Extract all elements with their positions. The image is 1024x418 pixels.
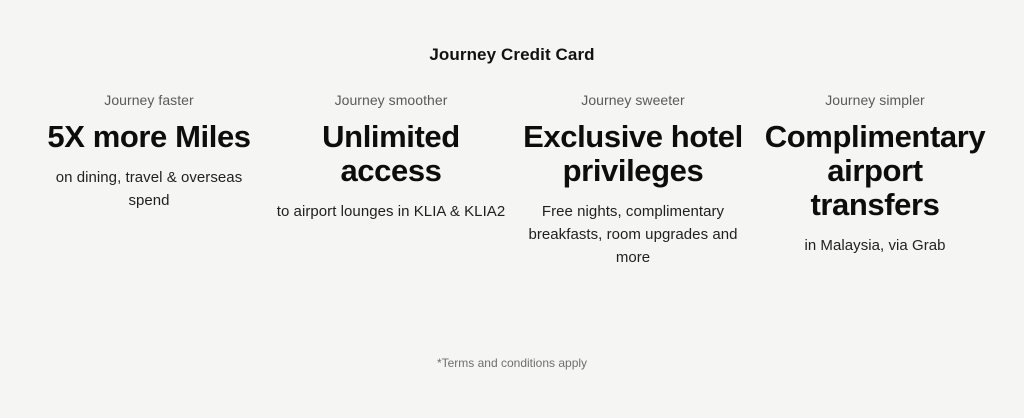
benefit-headline: Exclusive hotel privileges [518,120,748,188]
benefit-headline: 5X more Miles [34,120,264,154]
benefit-description: on dining, travel & overseas spend [34,166,264,212]
page-title: Journey Credit Card [0,0,1024,66]
journey-credit-card-promo-panel: Journey Credit Card Journey faster 5X mo… [0,0,1024,418]
benefit-card-journey-faster: Journey faster 5X more Miles on dining, … [28,90,270,212]
benefit-card-journey-sweeter: Journey sweeter Exclusive hotel privileg… [512,90,754,269]
benefit-headline: Complimentary airport transfers [760,120,990,222]
benefit-description: to airport lounges in KLIA & KLIA2 [276,200,506,223]
benefit-headline: Unlimited access [276,120,506,188]
benefit-kicker: Journey faster [34,90,264,110]
benefit-grid: Journey faster 5X more Miles on dining, … [0,90,1024,269]
benefit-description: Free nights, complimentary breakfasts, r… [518,200,748,269]
benefit-kicker: Journey sweeter [518,90,748,110]
benefit-card-journey-simpler: Journey simpler Complimentary airport tr… [754,90,996,257]
benefit-card-journey-smoother: Journey smoother Unlimited access to air… [270,90,512,223]
benefit-kicker: Journey simpler [760,90,990,110]
terms-and-conditions-note: *Terms and conditions apply [0,355,1024,371]
benefit-description: in Malaysia, via Grab [760,234,990,257]
benefit-kicker: Journey smoother [276,90,506,110]
